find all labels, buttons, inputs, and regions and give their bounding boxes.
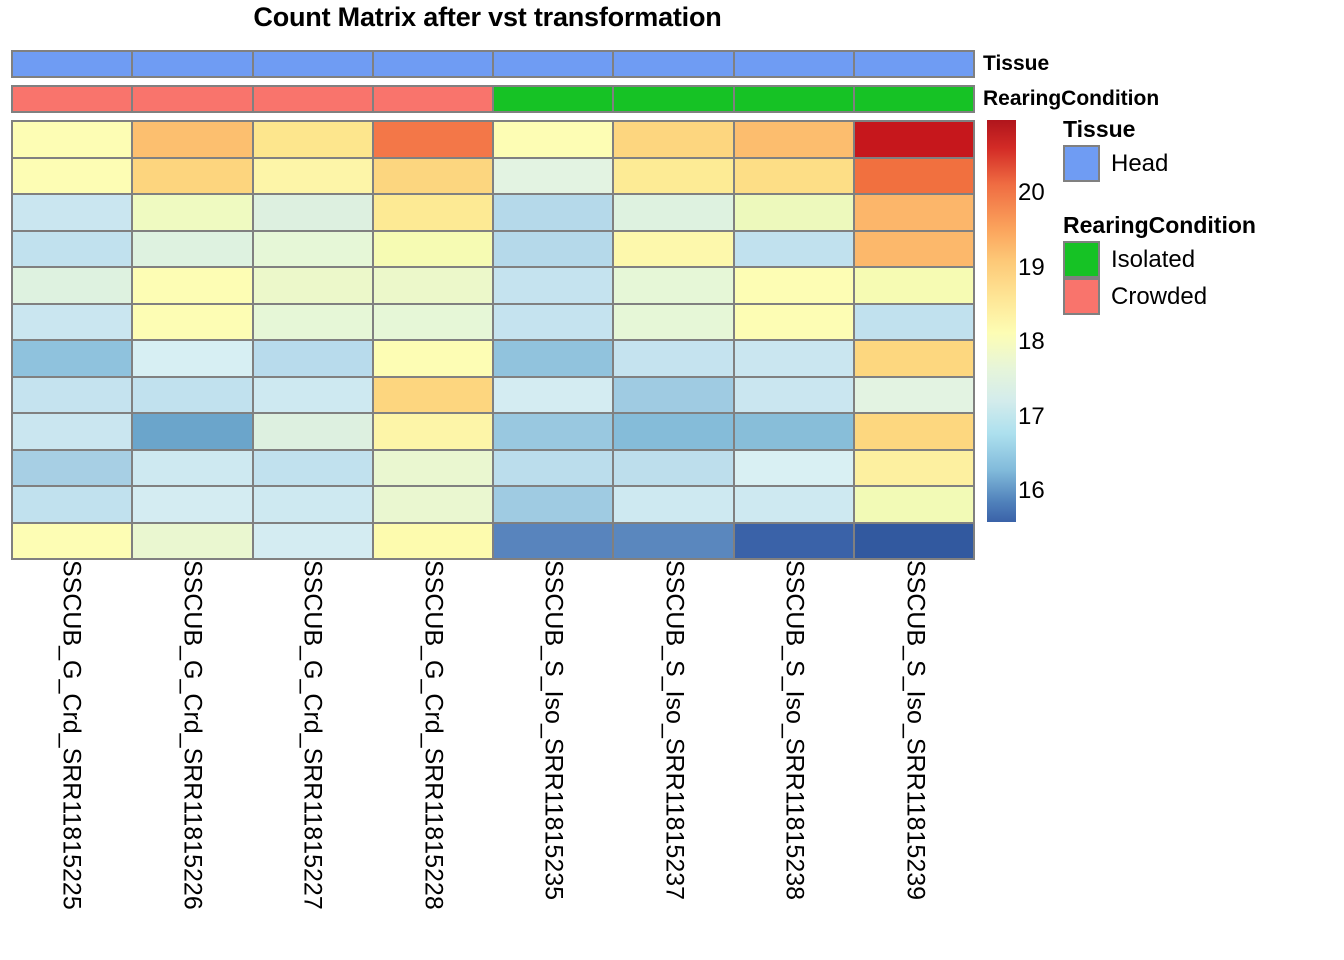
heatmap-cell	[131, 230, 253, 269]
heatmap-cell	[372, 522, 494, 561]
heatmap-cell	[612, 120, 734, 159]
heatmap-cell	[131, 266, 253, 305]
annotation-cell	[372, 50, 494, 78]
heatmap-row	[11, 303, 975, 340]
heatmap-cell	[853, 339, 975, 378]
heatmap-cell	[492, 193, 614, 232]
column-label: SSCUB_G_Crd_SRR11815225	[57, 560, 86, 910]
heatmap-row	[11, 449, 975, 486]
heatmap-cell	[733, 157, 855, 196]
annotation-cell	[492, 50, 614, 78]
heatmap-cell	[612, 230, 734, 269]
colorbar-tick-label: 20	[1018, 179, 1058, 207]
heatmap-cell	[11, 522, 133, 561]
heatmap-cell	[11, 376, 133, 415]
heatmap-cell	[131, 157, 253, 196]
heatmap-cell	[372, 120, 494, 159]
heatmap-cell	[733, 449, 855, 488]
heatmap-cell	[372, 193, 494, 232]
column-label-axis: SSCUB_G_Crd_SRR11815225SSCUB_G_Crd_SRR11…	[11, 560, 975, 958]
heatmap-cell	[131, 193, 253, 232]
page-title: Count Matrix after vst transformation	[0, 2, 975, 33]
heatmap-row	[11, 120, 975, 157]
heatmap-cell	[853, 120, 975, 159]
annotation-label-tissue: Tissue	[983, 52, 1049, 76]
heatmap-cell	[372, 449, 494, 488]
heatmap-row	[11, 376, 975, 413]
heatmap-cell	[252, 412, 374, 451]
heatmap-cell	[853, 193, 975, 232]
heatmap-cell	[612, 266, 734, 305]
heatmap-cell	[372, 230, 494, 269]
heatmap-cell	[853, 522, 975, 561]
annotation-cell	[11, 50, 133, 78]
heatmap-cell	[131, 376, 253, 415]
legend-swatch	[1063, 145, 1100, 182]
heatmap-row	[11, 266, 975, 303]
heatmap-cell	[372, 157, 494, 196]
heatmap-cell	[131, 485, 253, 524]
heatmap-cell	[853, 230, 975, 269]
annotation-cell	[733, 85, 855, 113]
heatmap-cell	[11, 303, 133, 342]
legend-label: Isolated	[1111, 246, 1195, 274]
heatmap-cell	[372, 266, 494, 305]
heatmap-cell	[252, 485, 374, 524]
heatmap-cell	[612, 193, 734, 232]
heatmap-cell	[252, 120, 374, 159]
column-label-slot: SSCUB_S_Iso_SRR11815237	[614, 560, 735, 958]
heatmap-cell	[252, 522, 374, 561]
heatmap-cell	[492, 157, 614, 196]
heatmap-cell	[372, 376, 494, 415]
heatmap-cell	[131, 449, 253, 488]
heatmap-cell	[492, 376, 614, 415]
column-label: SSCUB_G_Crd_SRR11815227	[298, 560, 327, 910]
heatmap-cell	[252, 230, 374, 269]
heatmap-cell	[252, 449, 374, 488]
annotation-cell	[612, 85, 734, 113]
heatmap-cell	[492, 412, 614, 451]
heatmap-cell	[733, 485, 855, 524]
heatmap-cell	[131, 303, 253, 342]
colorbar-tick-label: 17	[1018, 403, 1058, 431]
heatmap-cell	[492, 120, 614, 159]
annotation-cell	[853, 85, 975, 113]
heatmap-cell	[131, 120, 253, 159]
annotation-bar-rearingcondition	[11, 85, 975, 113]
column-label-slot: SSCUB_G_Crd_SRR11815227	[252, 560, 373, 958]
heatmap-row	[11, 485, 975, 522]
heatmap-cell	[853, 266, 975, 305]
legend-rearingcondition: RearingCondition IsolatedCrowded	[1063, 212, 1256, 315]
heatmap-cell	[131, 522, 253, 561]
heatmap-cell	[853, 376, 975, 415]
annotation-cell	[492, 85, 614, 113]
heatmap-cell	[372, 303, 494, 342]
heatmap-cell	[372, 339, 494, 378]
heatmap-cell	[612, 522, 734, 561]
legend-items-rearingcondition: IsolatedCrowded	[1063, 241, 1256, 315]
heatmap-cell	[492, 230, 614, 269]
annotation-label-rearingcondition: RearingCondition	[983, 87, 1159, 111]
column-label: SSCUB_G_Crd_SRR11815226	[177, 560, 206, 910]
heatmap-cell	[733, 230, 855, 269]
heatmap-cell	[11, 230, 133, 269]
heatmap-cell	[372, 485, 494, 524]
annotation-cell	[131, 50, 253, 78]
colorbar-gradient	[987, 120, 1016, 522]
annotation-cell	[252, 50, 374, 78]
heatmap-cell	[733, 266, 855, 305]
column-label-slot: SSCUB_G_Crd_SRR11815226	[132, 560, 253, 958]
legend-swatch	[1063, 241, 1100, 278]
heatmap-cell	[853, 303, 975, 342]
heatmap-row	[11, 339, 975, 376]
heatmap-cell	[131, 412, 253, 451]
heatmap-cell	[612, 412, 734, 451]
column-label-slot: SSCUB_S_Iso_SRR11815239	[855, 560, 976, 958]
annotation-cell	[612, 50, 734, 78]
legend-item[interactable]: Crowded	[1063, 278, 1256, 315]
legend-title-tissue: Tissue	[1063, 116, 1168, 143]
heatmap-cell	[612, 157, 734, 196]
column-label-slot: SSCUB_G_Crd_SRR11815225	[11, 560, 132, 958]
column-label: SSCUB_G_Crd_SRR11815228	[418, 560, 447, 910]
heatmap-cell	[612, 303, 734, 342]
column-label: SSCUB_S_Iso_SRR11815235	[539, 560, 568, 900]
legend-items-tissue: Head	[1063, 145, 1168, 182]
heatmap-cell	[11, 485, 133, 524]
column-label-slot: SSCUB_S_Iso_SRR11815238	[734, 560, 855, 958]
legend-label: Head	[1111, 150, 1168, 178]
legend-swatch	[1063, 278, 1100, 315]
heatmap-cell	[612, 449, 734, 488]
heatmap-cell	[252, 303, 374, 342]
heatmap-row	[11, 230, 975, 267]
heatmap-cell	[853, 412, 975, 451]
colorbar	[987, 120, 1016, 522]
heatmap-cell	[853, 485, 975, 524]
annotation-cell	[131, 85, 253, 113]
heatmap-cell	[252, 339, 374, 378]
legend-tissue: Tissue Head	[1063, 116, 1168, 182]
column-label: SSCUB_S_Iso_SRR11815238	[780, 560, 809, 900]
annotation-cell	[252, 85, 374, 113]
heatmap-cell	[612, 339, 734, 378]
heatmap-cell	[492, 266, 614, 305]
heatmap-cell	[11, 157, 133, 196]
annotation-bar-tissue	[11, 50, 975, 78]
heatmap-cell	[612, 485, 734, 524]
heatmap-cell	[11, 339, 133, 378]
annotation-cell	[372, 85, 494, 113]
heatmap-cell	[252, 193, 374, 232]
colorbar-tick-label: 19	[1018, 254, 1058, 282]
heatmap-cell	[11, 449, 133, 488]
annotation-cell	[853, 50, 975, 78]
column-label: SSCUB_S_Iso_SRR11815239	[900, 560, 929, 900]
heatmap-cell	[492, 449, 614, 488]
column-label-slot: SSCUB_G_Crd_SRR11815228	[373, 560, 494, 958]
heatmap-cell	[492, 522, 614, 561]
annotation-cell	[11, 85, 133, 113]
heatmap-cell	[11, 193, 133, 232]
heatmap-cell	[733, 412, 855, 451]
heatmap-cell	[733, 193, 855, 232]
heatmap-cell	[492, 485, 614, 524]
heatmap-cell	[11, 266, 133, 305]
heatmap-cell	[733, 522, 855, 561]
legend-item[interactable]: Isolated	[1063, 241, 1256, 278]
heatmap-cell	[11, 412, 133, 451]
heatmap-row	[11, 193, 975, 230]
heatmap-cell	[372, 412, 494, 451]
heatmap-cell	[11, 120, 133, 159]
heatmap-cell	[492, 303, 614, 342]
heatmap-grid	[11, 120, 975, 558]
legend-item[interactable]: Head	[1063, 145, 1168, 182]
heatmap-cell	[252, 266, 374, 305]
heatmap-cell	[853, 449, 975, 488]
heatmap-cell	[131, 339, 253, 378]
heatmap-row	[11, 412, 975, 449]
colorbar-tick-label: 18	[1018, 328, 1058, 356]
legend-label: Crowded	[1111, 283, 1207, 311]
column-label-slot: SSCUB_S_Iso_SRR11815235	[493, 560, 614, 958]
heatmap-cell	[733, 339, 855, 378]
heatmap-cell	[492, 339, 614, 378]
heatmap-cell	[733, 376, 855, 415]
heatmap-cell	[252, 157, 374, 196]
colorbar-tick-label: 16	[1018, 477, 1058, 505]
heatmap-cell	[853, 157, 975, 196]
heatmap-cell	[252, 376, 374, 415]
heatmap-cell	[612, 376, 734, 415]
heatmap-row	[11, 522, 975, 559]
column-label: SSCUB_S_Iso_SRR11815237	[659, 560, 688, 900]
annotation-cell	[733, 50, 855, 78]
heatmap-cell	[733, 120, 855, 159]
heatmap-cell	[733, 303, 855, 342]
legend-title-rearingcondition: RearingCondition	[1063, 212, 1256, 239]
heatmap-row	[11, 157, 975, 194]
